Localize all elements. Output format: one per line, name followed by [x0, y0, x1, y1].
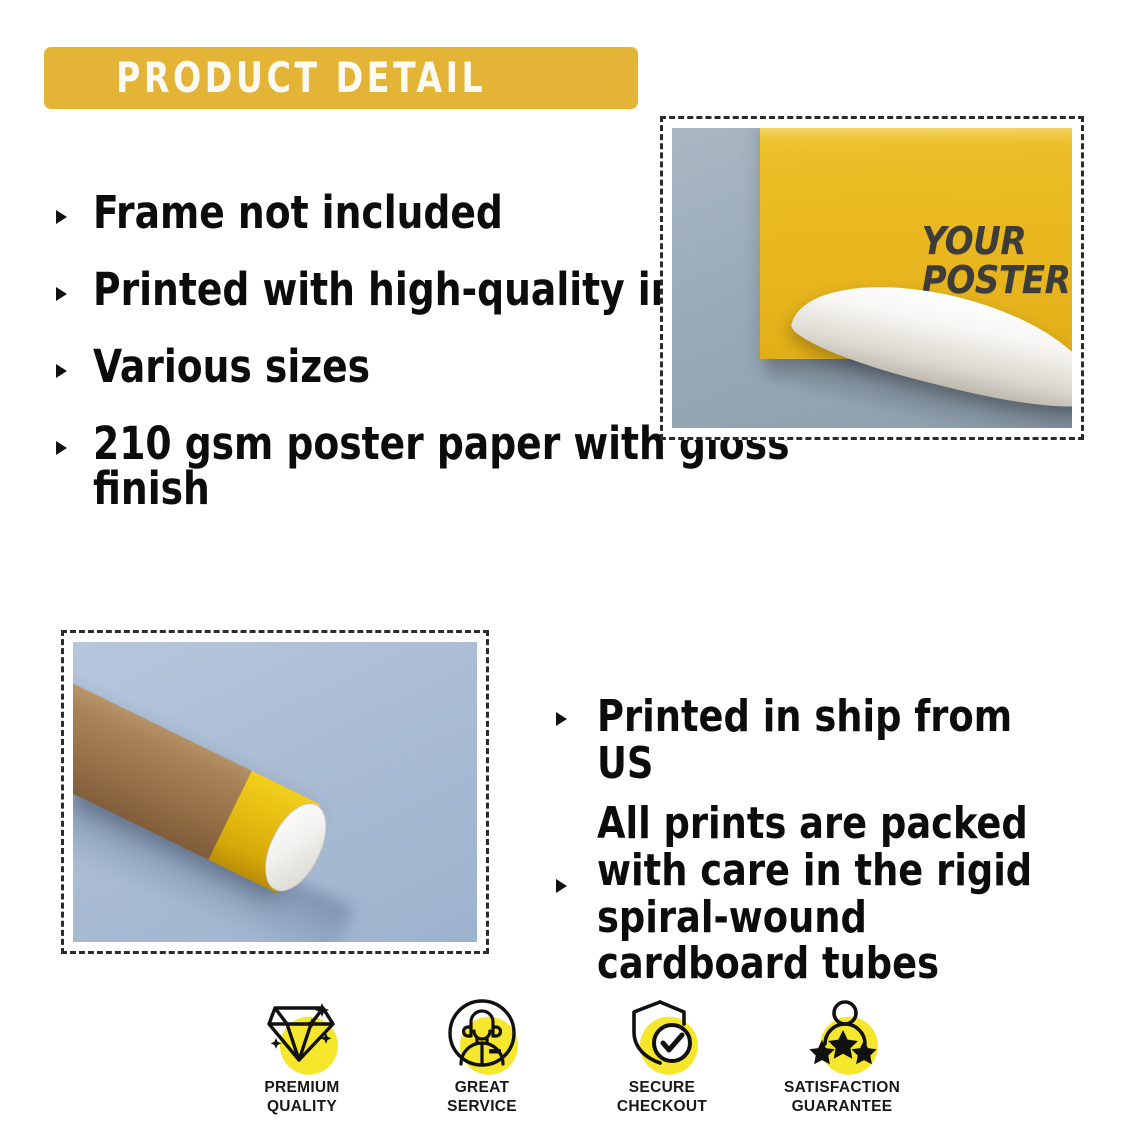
- badge-label: SATISFACTION GUARANTEE: [762, 1078, 922, 1117]
- product-detail-banner: PRODUCT DETAIL: [44, 47, 638, 109]
- trust-badge-satisfaction-guarantee: SATISFACTION GUARANTEE: [762, 992, 922, 1117]
- tube-photo: [73, 642, 477, 942]
- poster-photo: YOUR POSTER: [672, 128, 1072, 428]
- triangle-bullet-icon: [56, 287, 67, 301]
- product-detail-infographic: PRODUCT DETAIL Frame not included Printe…: [0, 0, 1140, 1140]
- trust-badge-secure-checkout: SECURE CHECKOUT: [582, 992, 742, 1117]
- feature-text: Printed in ship from US: [597, 694, 1080, 787]
- feature-text: Various sizes: [93, 344, 370, 389]
- trust-badge-premium-quality: PREMIUM QUALITY: [222, 992, 382, 1117]
- poster-photo-frame: YOUR POSTER: [660, 116, 1084, 440]
- feature-list-secondary: Printed in ship from US All prints are p…: [556, 694, 1116, 1002]
- triangle-bullet-icon: [56, 441, 67, 455]
- feature-text: Printed with high-quality inks: [93, 267, 725, 312]
- list-item: All prints are packed with care in the r…: [556, 801, 1116, 988]
- diamond-icon: [265, 1000, 339, 1066]
- poster-caption: YOUR POSTER: [922, 222, 1071, 300]
- feature-text: Frame not included: [93, 190, 503, 235]
- trust-badge-great-service: GREAT SERVICE: [402, 992, 562, 1117]
- badge-artwork: [402, 992, 562, 1074]
- badge-artwork: [582, 992, 742, 1074]
- triangle-bullet-icon: [56, 210, 67, 224]
- page-title: PRODUCT DETAIL: [116, 57, 486, 99]
- triangle-bullet-icon: [56, 364, 67, 378]
- headset-agent-icon: [447, 998, 517, 1068]
- person-stars-icon: [805, 1000, 879, 1066]
- triangle-bullet-icon: [556, 879, 567, 893]
- badge-artwork: [762, 992, 922, 1074]
- triangle-bullet-icon: [556, 712, 567, 726]
- list-item: Printed in ship from US: [556, 694, 1116, 787]
- badge-label: PREMIUM QUALITY: [222, 1078, 382, 1117]
- feature-text: All prints are packed with care in the r…: [597, 801, 1032, 988]
- badge-label: GREAT SERVICE: [402, 1078, 562, 1117]
- shield-check-icon: [626, 998, 698, 1068]
- badge-label: SECURE CHECKOUT: [582, 1078, 742, 1117]
- trust-badge-row: PREMIUM QUALITY: [222, 992, 922, 1117]
- badge-artwork: [222, 992, 382, 1074]
- tube-photo-frame: [61, 630, 489, 954]
